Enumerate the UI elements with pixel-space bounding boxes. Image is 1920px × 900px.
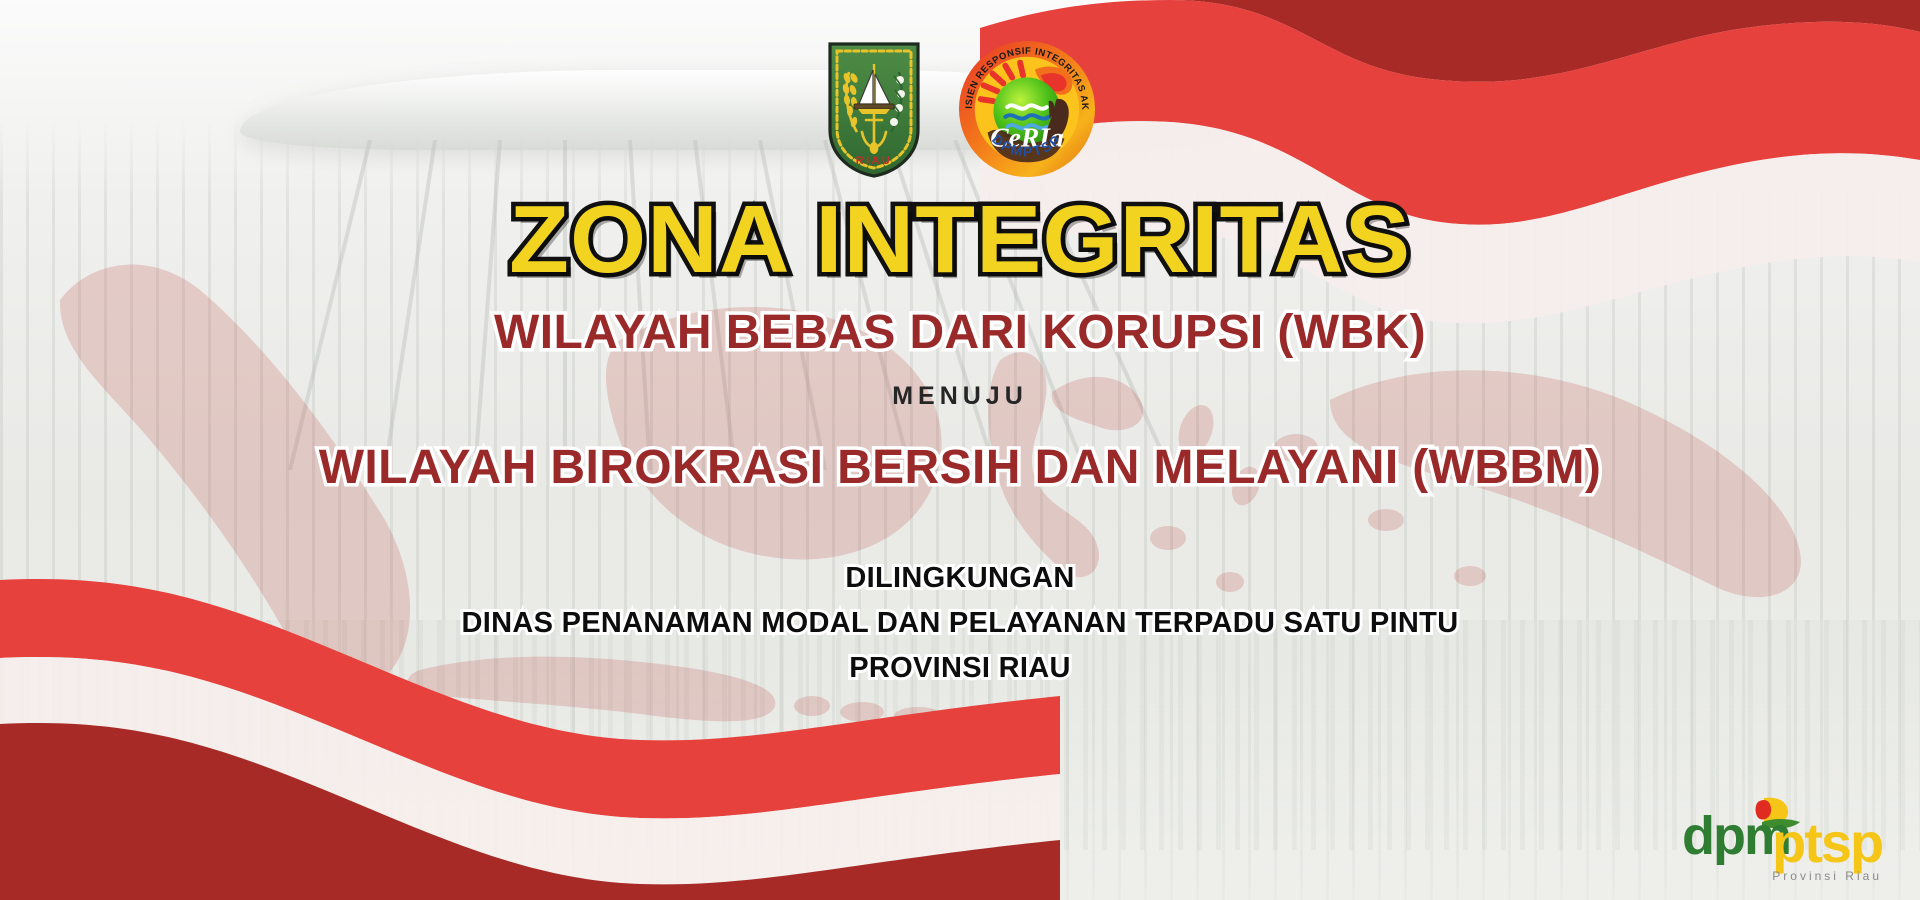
dpmptsp-tagline-text: Provinsi Riau [1772, 869, 1882, 883]
organization-name: DINAS PENANAMAN MODAL DAN PELAYANAN TERP… [462, 601, 1459, 646]
subtitle-wbk: WILAYAH BEBAS DARI KORUPSI (WBK) [494, 306, 1426, 360]
banner-content: ZONA INTEGRITAS WILAYAH BEBAS DARI KORUP… [0, 190, 1920, 691]
riau-coat-of-arms-icon: RIAU [824, 38, 924, 180]
province-name: PROVINSI RIAU [849, 646, 1070, 691]
subtitle-wbbm: WILAYAH BIROKRASI BERSIH DAN MELAYANI (W… [319, 441, 1602, 495]
ptsp-wordmark-text: ptsp [1772, 811, 1882, 874]
dpmptsp-wordmark-logo: dpm ptsp Provinsi Riau [1676, 788, 1892, 884]
page-title: ZONA INTEGRITAS [509, 190, 1411, 290]
connector-label: MENUJU [892, 382, 1028, 411]
zona-integritas-banner: RIAU [0, 0, 1920, 900]
scope-label: DILINGKUNGAN [845, 556, 1074, 601]
svg-text:RIAU: RIAU [856, 155, 893, 167]
logo-row: RIAU [0, 38, 1920, 180]
ceria-dpmptsp-logo-icon: CeRIa CEPAT EFISIEN RESPONSIF INTEGRITAS… [958, 40, 1096, 178]
